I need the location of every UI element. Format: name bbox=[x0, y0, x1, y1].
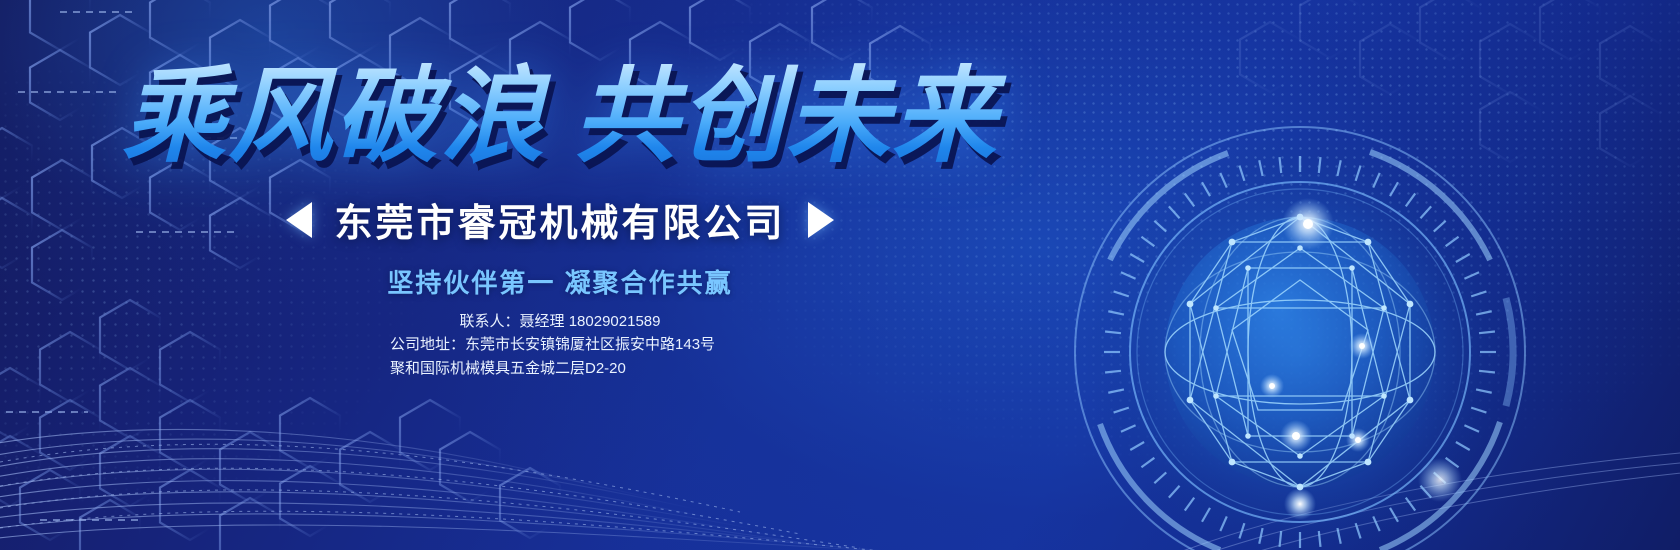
contact-block: 联系人：聂经理 18029021589 公司地址：东莞市长安镇锦厦社区振安中路1… bbox=[0, 310, 1120, 380]
banner-text-content: 乘风破浪共创未来 东莞市睿冠机械有限公司 坚持伙伴第一 凝聚合作共赢 联系人：聂… bbox=[0, 0, 1120, 550]
hud-tick-ring bbox=[1104, 156, 1496, 548]
hud-ring-outer bbox=[1100, 152, 1500, 550]
wireframe-globe-graphic bbox=[1075, 127, 1525, 550]
company-address-line: 公司地址：东莞市长安镇锦厦社区振安中路143号聚和国际机械模具五金城二层D2-2… bbox=[390, 333, 730, 380]
main-title-part1: 乘风破浪 bbox=[122, 59, 546, 175]
tagline: 坚持伙伴第一 凝聚合作共赢 bbox=[0, 263, 1120, 300]
company-name: 东莞市睿冠机械有限公司 bbox=[334, 192, 785, 247]
promotional-banner: 乘风破浪共创未来 东莞市睿冠机械有限公司 坚持伙伴第一 凝聚合作共赢 联系人：聂… bbox=[0, 0, 1680, 550]
address-label: 公司地址： bbox=[390, 336, 465, 353]
left-triangle-icon bbox=[286, 202, 312, 238]
hexagon-pattern-right bbox=[1240, 0, 1660, 166]
globe-node-points bbox=[1187, 214, 1414, 491]
right-triangle-icon bbox=[808, 202, 834, 238]
contact-person-line: 联系人：聂经理 18029021589 bbox=[0, 310, 1120, 333]
hud-ring-outer-thin bbox=[1075, 127, 1525, 550]
globe-wireframe-lines bbox=[1165, 217, 1435, 487]
hud-ring-inner bbox=[1130, 182, 1470, 522]
wave-line-decoration-right bbox=[1180, 452, 1680, 550]
globe-glow-points bbox=[1260, 198, 1462, 520]
main-title-part2: 共创未来 bbox=[574, 59, 998, 175]
company-name-row: 东莞市睿冠机械有限公司 bbox=[0, 192, 1120, 247]
main-title: 乘风破浪共创未来 bbox=[0, 62, 1120, 172]
